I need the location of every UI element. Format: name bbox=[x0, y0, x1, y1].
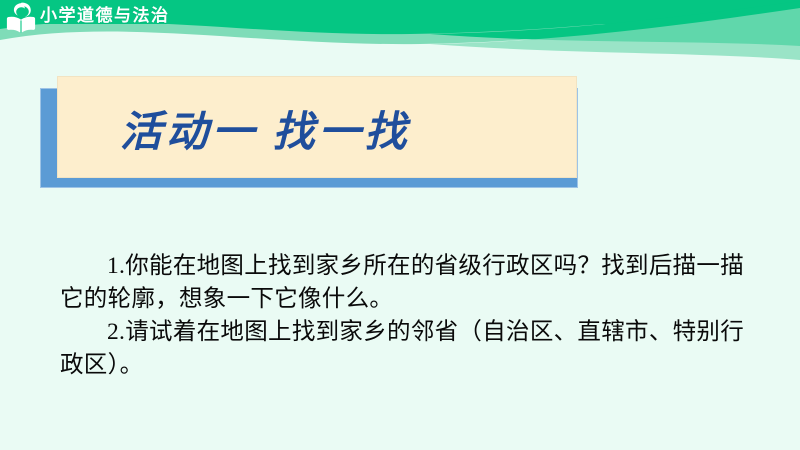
activity-title-banner: 活动一 找一找 bbox=[40, 76, 580, 188]
slide-canvas: 小学道德与法治 活动一 找一找 1.你能在地图上找到家乡所在的省级行政区吗？找到… bbox=[0, 0, 800, 450]
activity-instructions: 1.你能在地图上找到家乡所在的省级行政区吗？找到后描一描它的轮廓，想象一下它像什… bbox=[60, 250, 760, 382]
slide-header: 小学道德与法治 bbox=[0, 0, 800, 72]
instruction-paragraph-2: 2.请试着在地图上找到家乡的邻省（自治区、直辖市、特别行政区）。 bbox=[60, 316, 760, 382]
subject-title: 小学道德与法治 bbox=[40, 5, 170, 27]
instruction-paragraph-1: 1.你能在地图上找到家乡所在的省级行政区吗？找到后描一描它的轮廓，想象一下它像什… bbox=[60, 250, 760, 316]
activity-title-text: 活动一 找一找 bbox=[58, 77, 578, 179]
open-book-logo bbox=[0, 0, 42, 38]
banner-cream-box: 活动一 找一找 bbox=[57, 76, 577, 178]
